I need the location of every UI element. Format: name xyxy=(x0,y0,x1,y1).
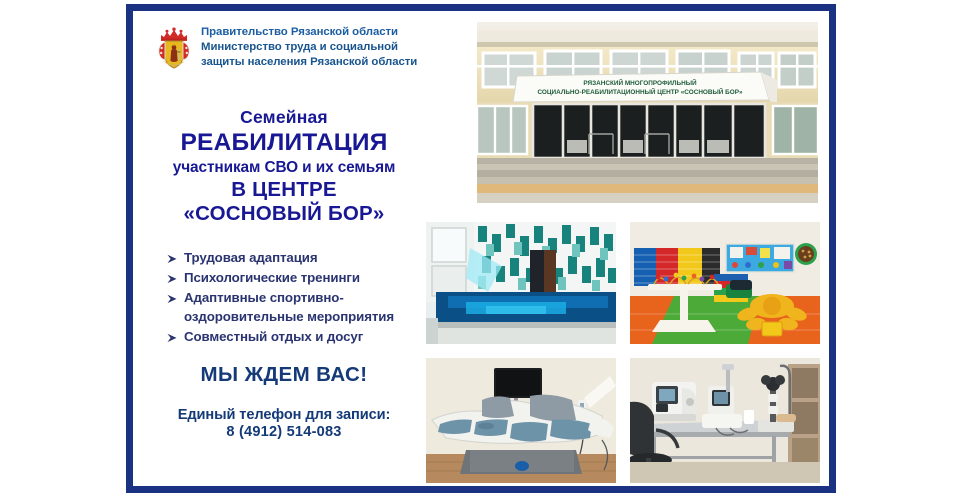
headline-line-1: Семейная xyxy=(133,107,435,128)
gov-line-1: Правительство Рязанской области xyxy=(201,25,417,40)
children-playroom-photo xyxy=(630,222,820,344)
gov-line-3: защиты населения Рязанской области xyxy=(201,55,417,70)
poster-inner: Правительство Рязанской области Министер… xyxy=(133,11,829,486)
list-item-continuation: оздоровительные мероприятия xyxy=(167,308,432,326)
list-item: Адаптивные спортивно- xyxy=(167,289,432,307)
government-header-lines: Правительство Рязанской области Министер… xyxy=(201,23,417,70)
poster-frame: Правительство Рязанской области Министер… xyxy=(126,4,836,493)
headline-line-4: В ЦЕНТРЕ xyxy=(133,178,435,202)
government-header: Правительство Рязанской области Министер… xyxy=(154,23,439,72)
headline-line-2: РЕАБИЛИТАЦИЯ xyxy=(133,129,435,157)
arrow-bullet-icon xyxy=(167,291,178,307)
page-title: Семейная РЕАБИЛИТАЦИЯ участникам СВО и и… xyxy=(133,107,435,225)
gov-line-2: Министерство труда и социальной xyxy=(201,40,417,55)
cta-title: МЫ ЖДЕМ ВАС! xyxy=(133,363,435,387)
arrow-bullet-spacer xyxy=(167,310,178,326)
list-item-label: Трудовая адаптация xyxy=(184,249,318,267)
center-building-exterior-photo: РЯЗАНСКИЙ МНОГОПРОФИЛЬНЫЙ СОЦИАЛЬНО-РЕАБ… xyxy=(477,22,818,203)
list-item-label: Совместный отдых и досуг xyxy=(184,328,363,346)
headline-line-5: «СОСНОВЫЙ БОР» xyxy=(133,202,435,226)
call-to-action: МЫ ЖДЕМ ВАС! xyxy=(133,363,435,387)
list-item-label: Адаптивные спортивно- xyxy=(184,289,344,307)
facility-photo-grid xyxy=(426,222,820,486)
massage-therapy-table-photo xyxy=(426,358,616,483)
list-item: Совместный отдых и досуг xyxy=(167,328,432,346)
services-list: Трудовая адаптация Психологические трени… xyxy=(167,249,432,348)
list-item-label: Психологические тренинги xyxy=(184,269,360,287)
contact-label: Единый телефон для записи: xyxy=(133,407,435,423)
list-item: Психологические тренинги xyxy=(167,269,432,287)
poster-stage: Правительство Рязанской области Министер… xyxy=(0,0,960,497)
list-item-label: оздоровительные мероприятия xyxy=(184,308,394,326)
contact-phone-number: 8 (4912) 514-083 xyxy=(133,424,435,440)
ryazan-oblast-coat-of-arms-icon xyxy=(154,26,194,72)
arrow-bullet-icon xyxy=(167,271,178,287)
left-text-column: Правительство Рязанской области Министер… xyxy=(133,11,433,486)
swimming-pool-photo xyxy=(426,222,616,344)
ophthalmology-office-photo xyxy=(630,358,820,483)
arrow-bullet-icon xyxy=(167,330,178,346)
building-sign-line-1: РЯЗАНСКИЙ МНОГОПРОФИЛЬНЫЙ xyxy=(583,78,697,87)
headline-line-3: участникам СВО и их семьям xyxy=(133,159,435,177)
list-item: Трудовая адаптация xyxy=(167,249,432,267)
contact-block: Единый телефон для записи: 8 (4912) 514-… xyxy=(133,407,435,440)
building-sign-line-2: СОЦИАЛЬНО-РЕАБИЛИТАЦИОННЫЙ ЦЕНТР «СОСНОВ… xyxy=(537,87,743,96)
arrow-bullet-icon xyxy=(167,251,178,267)
